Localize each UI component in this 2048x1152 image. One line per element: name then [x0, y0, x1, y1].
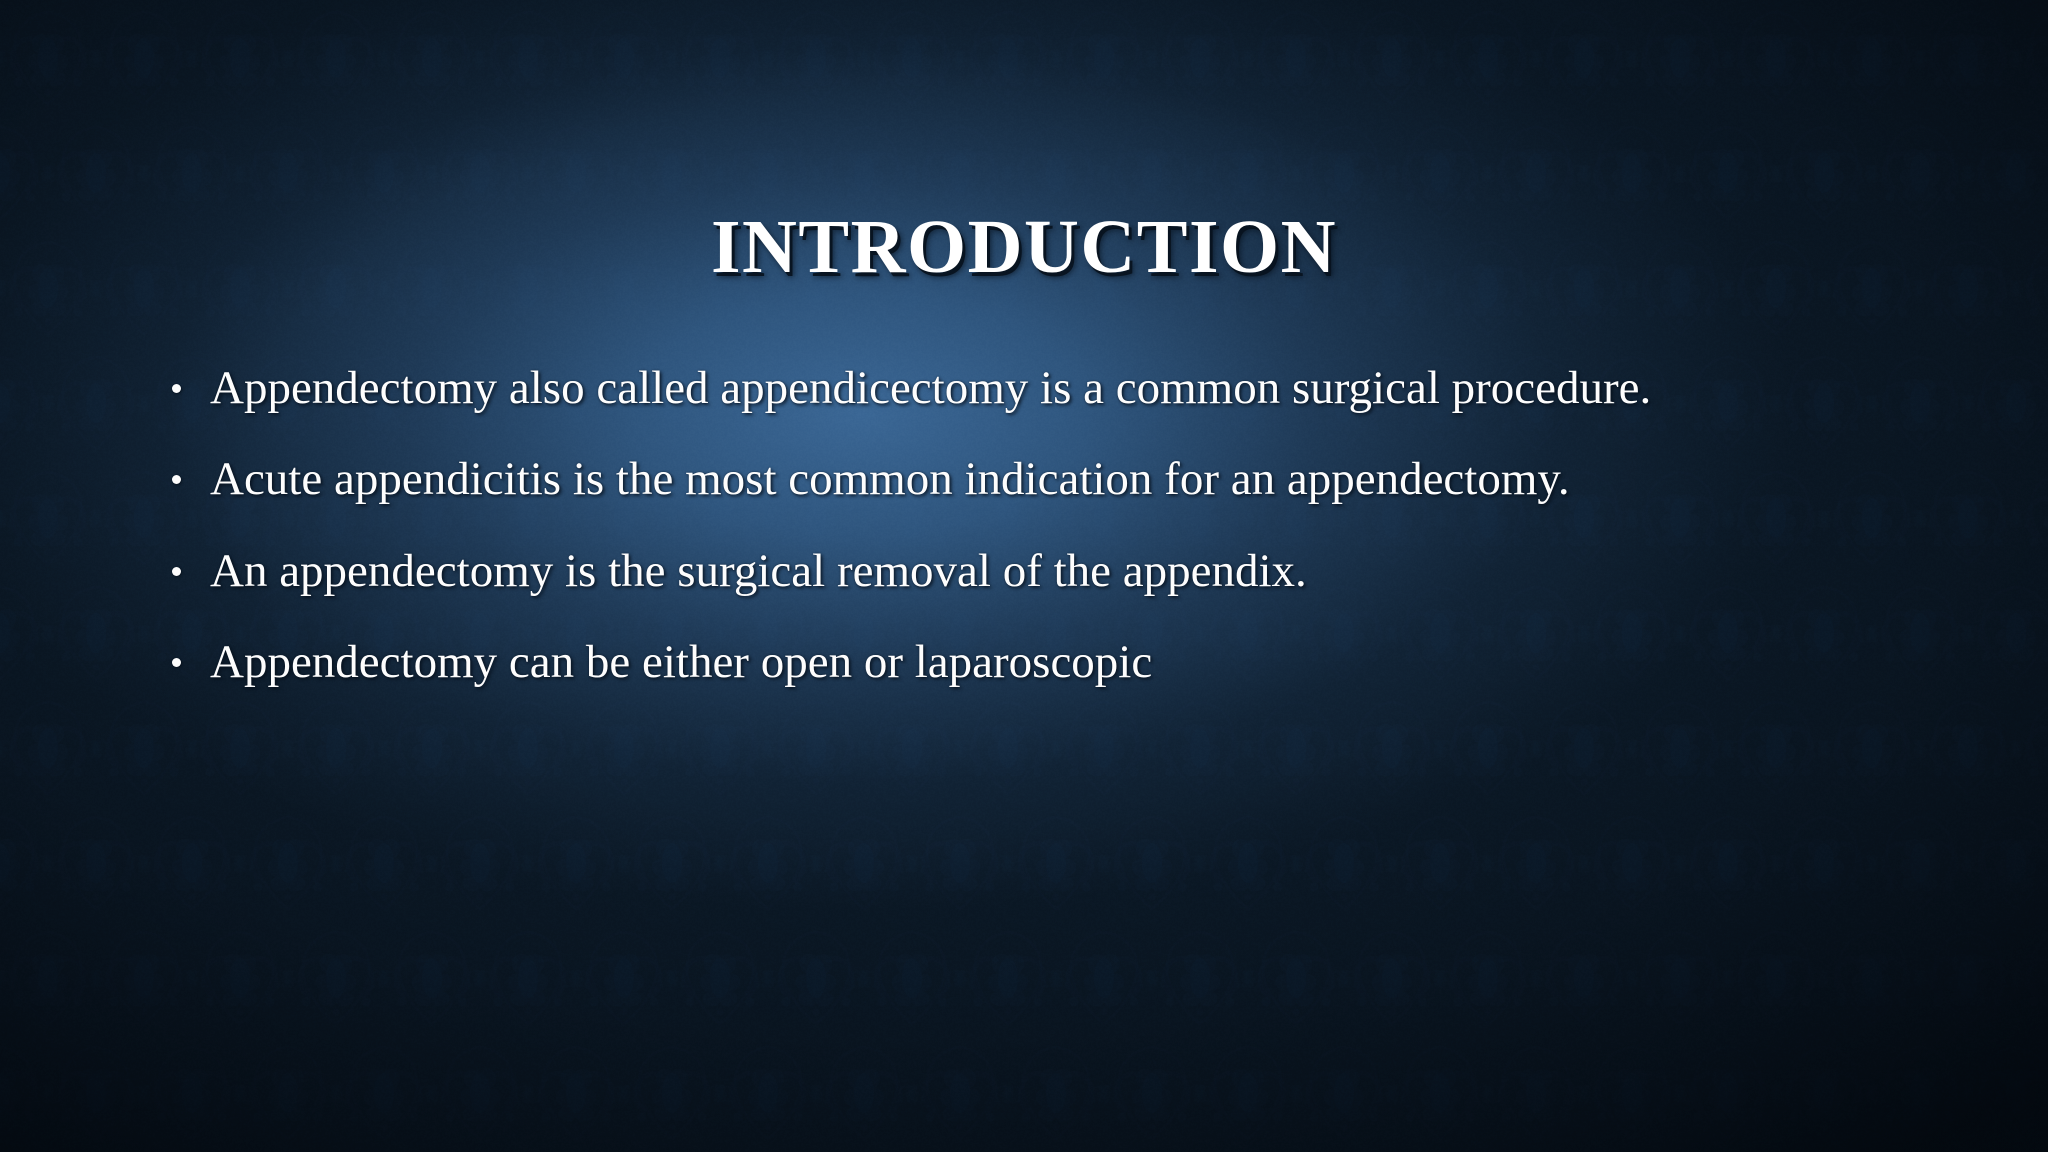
bullet-dot-icon — [172, 658, 181, 667]
bullet-item-text: Appendectomy also called appendicectomy … — [210, 360, 1808, 417]
bullet-item: Appendectomy can be either open or lapar… — [168, 634, 1808, 691]
bullet-dot-icon — [172, 384, 181, 393]
slide-content: INTRODUCTION Appendectomy also called ap… — [0, 0, 2048, 1152]
bullet-dot-icon — [172, 475, 181, 484]
bullet-item-text: Appendectomy can be either open or lapar… — [210, 634, 1808, 691]
presentation-slide: INTRODUCTION Appendectomy also called ap… — [0, 0, 2048, 1152]
bullet-item-text: An appendectomy is the surgical removal … — [210, 543, 1808, 600]
bullet-item: Acute appendicitis is the most common in… — [168, 451, 1808, 508]
slide-title: INTRODUCTION — [0, 209, 2048, 285]
bullet-item-text: Acute appendicitis is the most common in… — [210, 451, 1808, 508]
bullet-item: An appendectomy is the surgical removal … — [168, 543, 1808, 600]
bullet-item: Appendectomy also called appendicectomy … — [168, 360, 1808, 417]
bullet-dot-icon — [172, 567, 181, 576]
bullet-list: Appendectomy also called appendicectomy … — [168, 360, 1808, 725]
